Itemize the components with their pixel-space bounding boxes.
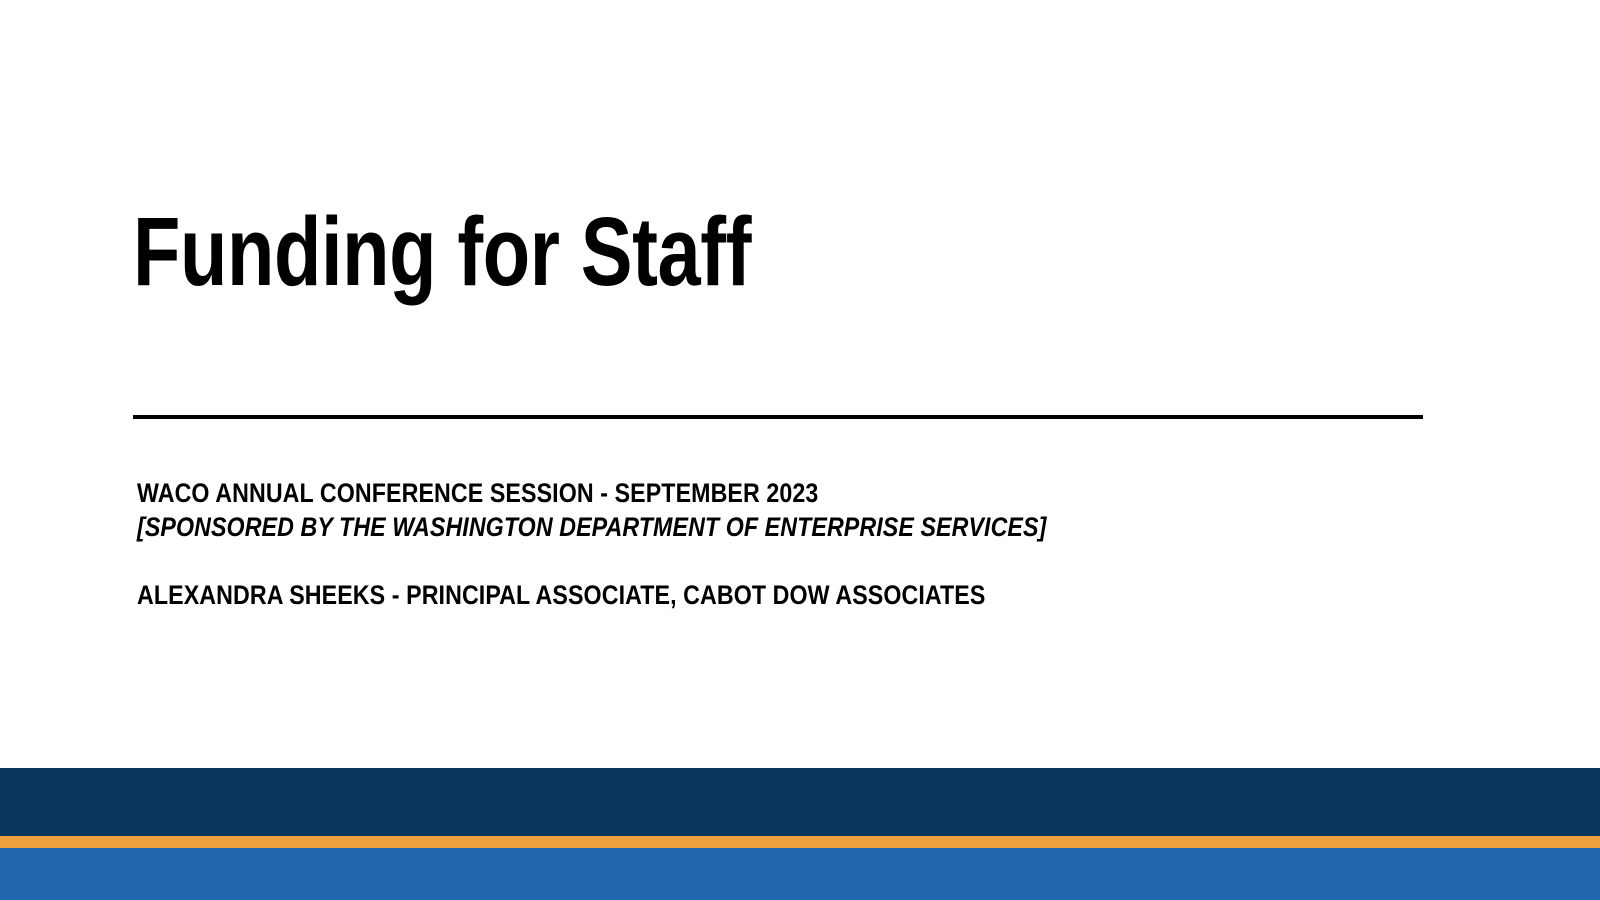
subtitle-block: WACO ANNUAL CONFERENCE SESSION - SEPTEMB… xyxy=(137,476,1427,612)
title-block: Funding for Staff xyxy=(133,200,1425,305)
presenter-line: ALEXANDRA SHEEKS - PRINCIPAL ASSOCIATE, … xyxy=(137,578,1246,612)
footer-band-blue xyxy=(0,848,1600,900)
subtitle-spacer xyxy=(137,544,1427,578)
footer-band-orange xyxy=(0,836,1600,848)
sponsor-line: [SPONSORED BY THE WASHINGTON DEPARTMENT … xyxy=(137,510,1246,544)
conference-session-line: WACO ANNUAL CONFERENCE SESSION - SEPTEMB… xyxy=(137,476,1246,510)
title-slide: Funding for Staff WACO ANNUAL CONFERENCE… xyxy=(0,0,1600,900)
title-divider-rule xyxy=(133,415,1423,419)
footer-band-navy xyxy=(0,768,1600,836)
page-title: Funding for Staff xyxy=(133,200,1167,305)
